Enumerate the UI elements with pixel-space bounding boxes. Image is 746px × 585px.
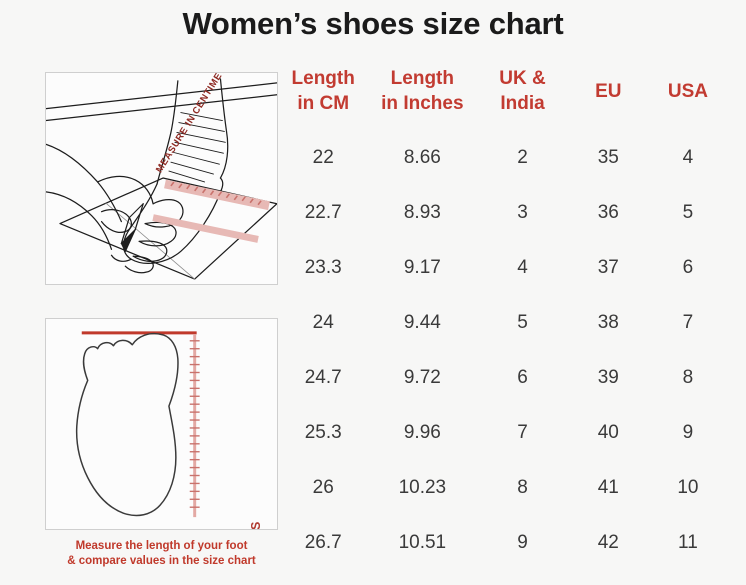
header-line-1: USA	[668, 81, 708, 102]
column-header-uk-india: UK & India	[476, 66, 568, 130]
table-header-row: Length in CM Length in Inches UK & India…	[278, 66, 728, 130]
foot-tracing-drawing	[46, 73, 277, 284]
cell-inches: 9.96	[368, 405, 476, 460]
cell-cm: 24.7	[278, 350, 368, 405]
cell-eu: 41	[569, 460, 648, 515]
cell-usa: 9	[648, 405, 728, 460]
cell-usa: 8	[648, 350, 728, 405]
foot-sole-drawing	[46, 319, 277, 529]
cell-eu: 39	[569, 350, 648, 405]
header-line-2: in Inches	[381, 93, 463, 114]
cell-cm: 26.7	[278, 515, 368, 570]
table-row: 22.78.933365	[278, 185, 728, 240]
cell-inches: 10.51	[368, 515, 476, 570]
cell-eu: 35	[569, 130, 648, 185]
cell-usa: 5	[648, 185, 728, 240]
cell-cm: 22.7	[278, 185, 368, 240]
cell-usa: 11	[648, 515, 728, 570]
cell-eu: 42	[569, 515, 648, 570]
caption-line-1: Measure the length of your foot	[45, 539, 278, 554]
measure-in-centimeters-label-vertical: MEASURE IN CENTIMETERS	[249, 521, 263, 530]
cell-cm: 25.3	[278, 405, 368, 460]
foot-tracing-illustration: MEASURE IN CENTIMETERS	[45, 72, 278, 285]
cell-uk-india: 8	[476, 460, 568, 515]
cell-eu: 37	[569, 240, 648, 295]
caption-line-2: & compare values in the size chart	[45, 554, 278, 569]
cell-uk-india: 4	[476, 240, 568, 295]
cell-cm: 24	[278, 295, 368, 350]
header-line-1: Length	[292, 68, 355, 89]
size-chart-table: Length in CM Length in Inches UK & India…	[278, 66, 728, 570]
cell-cm: 26	[278, 460, 368, 515]
header-line-2: in CM	[297, 93, 349, 114]
column-header-length-cm: Length in CM	[278, 66, 368, 130]
table-row: 228.662354	[278, 130, 728, 185]
cell-eu: 38	[569, 295, 648, 350]
table-row: 249.445387	[278, 295, 728, 350]
column-header-length-inches: Length in Inches	[368, 66, 476, 130]
cell-inches: 9.17	[368, 240, 476, 295]
cell-eu: 36	[569, 185, 648, 240]
cell-usa: 6	[648, 240, 728, 295]
cell-uk-india: 5	[476, 295, 568, 350]
table-row: 2610.2384110	[278, 460, 728, 515]
cell-cm: 23.3	[278, 240, 368, 295]
cell-usa: 4	[648, 130, 728, 185]
page-title: Women’s shoes size chart	[0, 6, 746, 42]
column-header-eu: EU	[569, 66, 648, 130]
cell-uk-india: 7	[476, 405, 568, 460]
cell-inches: 10.23	[368, 460, 476, 515]
cell-cm: 22	[278, 130, 368, 185]
measure-instructions-caption: Measure the length of your foot & compar…	[45, 539, 278, 569]
header-line-2: India	[500, 93, 544, 114]
cell-usa: 10	[648, 460, 728, 515]
cell-usa: 7	[648, 295, 728, 350]
header-line-1: Length	[391, 68, 454, 89]
table-row: 26.710.5194211	[278, 515, 728, 570]
header-line-1: EU	[595, 81, 621, 102]
cell-uk-india: 6	[476, 350, 568, 405]
cell-eu: 40	[569, 405, 648, 460]
cell-inches: 8.66	[368, 130, 476, 185]
cell-inches: 8.93	[368, 185, 476, 240]
cell-inches: 9.72	[368, 350, 476, 405]
column-header-usa: USA	[648, 66, 728, 130]
table-row: 25.39.967409	[278, 405, 728, 460]
cell-uk-india: 9	[476, 515, 568, 570]
illustration-column: MEASURE IN CENTIMETERS	[45, 72, 278, 569]
table-body: 228.66235422.78.93336523.39.174376249.44…	[278, 130, 728, 570]
table-row: 24.79.726398	[278, 350, 728, 405]
cell-uk-india: 3	[476, 185, 568, 240]
cell-inches: 9.44	[368, 295, 476, 350]
header-line-1: UK &	[499, 68, 545, 89]
cell-uk-india: 2	[476, 130, 568, 185]
table-row: 23.39.174376	[278, 240, 728, 295]
foot-length-illustration: MEASURE IN CENTIMETERS	[45, 318, 278, 530]
